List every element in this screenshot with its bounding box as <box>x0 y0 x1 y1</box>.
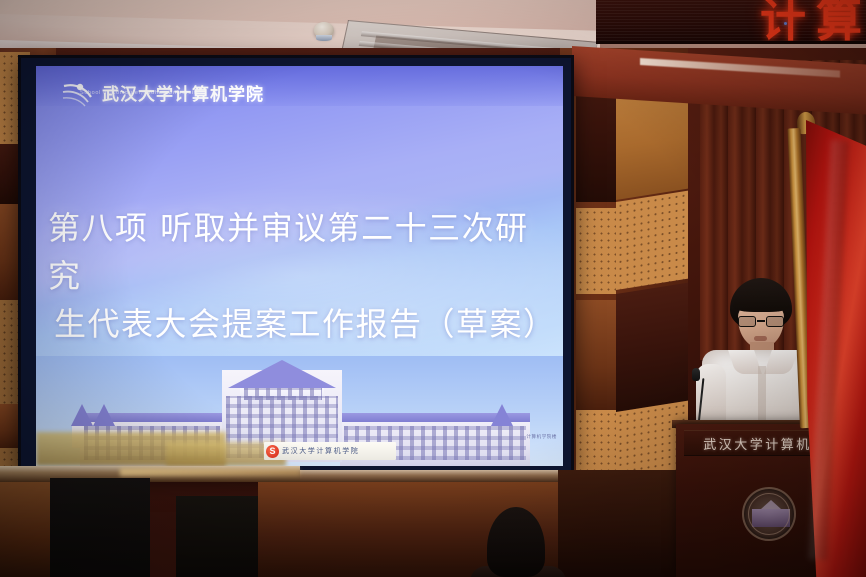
presentation-slide: 武汉大学计算机学院 School of Computer, Wuhan Univ… <box>36 66 563 466</box>
photo-small-text: 计算机学院楼 <box>526 434 557 440</box>
projection-screen: 武汉大学计算机学院 School of Computer, Wuhan Univ… <box>18 55 574 473</box>
banner-logo-icon: S <box>266 445 279 458</box>
building-windows <box>244 388 322 400</box>
building-turret-roof <box>93 404 115 426</box>
foreground-desk <box>0 482 50 577</box>
led-pixel-dot <box>784 22 787 25</box>
building-turret-roof <box>71 404 93 426</box>
acoustic-panel <box>576 208 616 294</box>
slide-title-line2: 生代表大会提案工作报告（草案） <box>48 300 553 348</box>
wuhan-university-seal-icon <box>742 487 796 541</box>
led-marquee-sign: 计算 <box>596 0 866 44</box>
building-turret-roof <box>491 404 513 426</box>
presenter-mouth <box>754 336 767 341</box>
conference-hall-photo: 计算 武汉大学计算机学院 <box>0 0 866 577</box>
building-main-roof <box>228 360 336 388</box>
banner-text: 武汉大学计算机学院 <box>282 446 359 456</box>
screen-bezel: 武汉大学计算机学院 School of Computer, Wuhan Univ… <box>21 58 571 470</box>
building-photo: S 武汉大学计算机学院 计算机学院楼 <box>36 356 563 466</box>
led-sign-text: 计算 <box>760 0 866 42</box>
eyeglasses-icon <box>738 316 784 327</box>
microphone-icon <box>692 368 700 381</box>
foreground-equipment-box <box>50 478 150 577</box>
acoustic-panel-angled <box>616 190 692 290</box>
photo-banner: S 武汉大学计算机学院 <box>264 442 396 460</box>
foreground-equipment-box <box>176 496 258 577</box>
slide-title: 第八项 听取并审议第二十三次研究 生代表大会提案工作报告（草案） <box>48 204 553 348</box>
slide-logo-text-en: School of Computer, Wuhan University <box>80 90 200 96</box>
smoke-detector-icon <box>314 22 334 38</box>
slide-title-line1: 第八项 听取并审议第二十三次研究 <box>48 209 529 295</box>
counter-reflection <box>120 468 300 476</box>
wood-panel <box>576 300 616 410</box>
